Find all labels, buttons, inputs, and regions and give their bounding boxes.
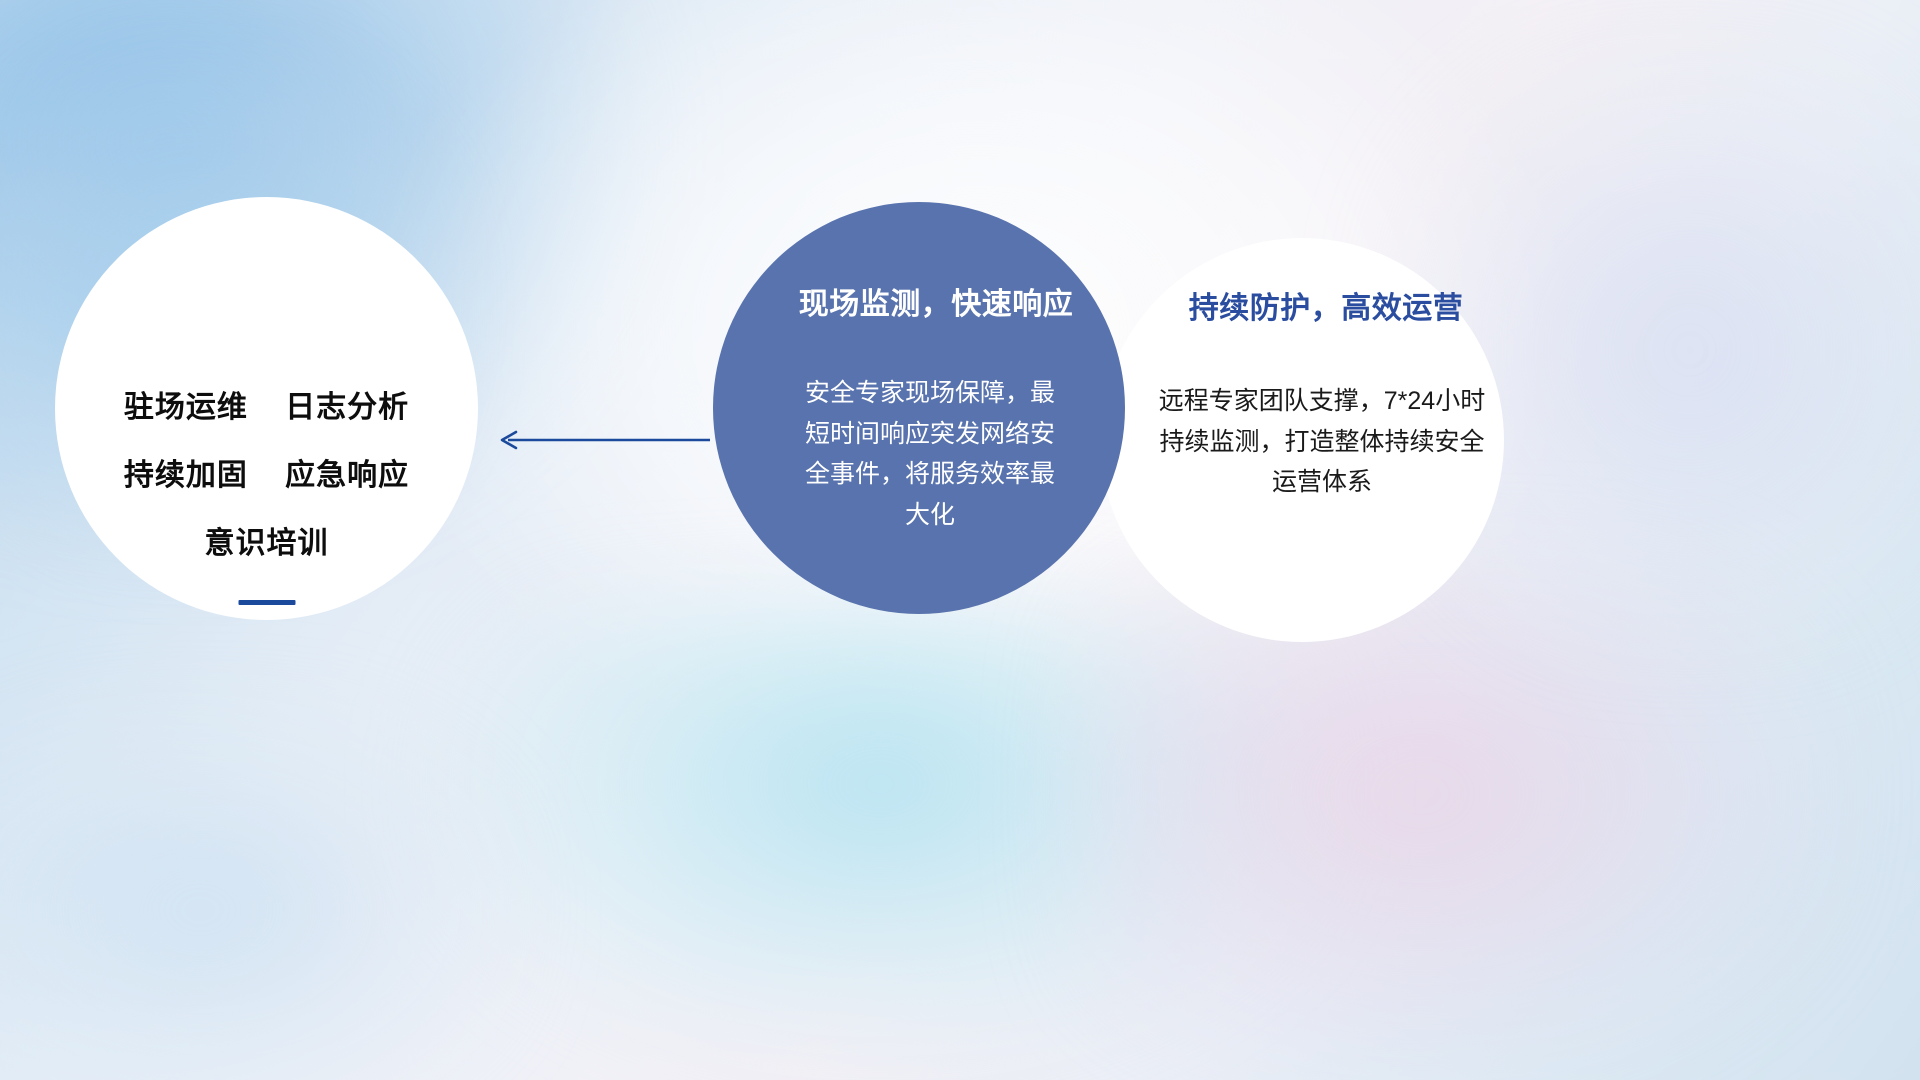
continuous-protection-body: 远程专家团队支撑，7*24小时持续监测，打造整体持续安全运营体系: [1152, 381, 1492, 503]
divider-dash-icon: [238, 600, 295, 605]
capability-line-2: 持续加固 应急响应: [124, 461, 409, 491]
onsite-monitoring-circle[interactable]: 现场监测，快速响应 安全专家现场保障，最短时间响应突发网络安全事件，将服务效率最…: [713, 202, 1125, 614]
continuous-protection-circle[interactable]: 持续防护，高效运营 远程专家团队支撑，7*24小时持续监测，打造整体持续安全运营…: [1100, 238, 1504, 642]
continuous-protection-title: 持续防护，高效运营: [1189, 292, 1464, 325]
onsite-monitoring-title: 现场监测，快速响应: [799, 288, 1074, 321]
slide-canvas: 驻场运维 日志分析 持续加固 应急响应 意识培训 持续防护，高效运营 远程专家团…: [0, 0, 1920, 1080]
capability-line-1: 驻场运维 日志分析: [124, 393, 409, 423]
onsite-monitoring-body: 安全专家现场保障，最短时间响应突发网络安全事件，将服务效率最大化: [794, 373, 1066, 535]
capability-line-3: 意识培训: [205, 529, 329, 559]
flow-arrow-left-icon: [492, 424, 712, 456]
capabilities-circle[interactable]: 驻场运维 日志分析 持续加固 应急响应 意识培训: [55, 197, 478, 620]
